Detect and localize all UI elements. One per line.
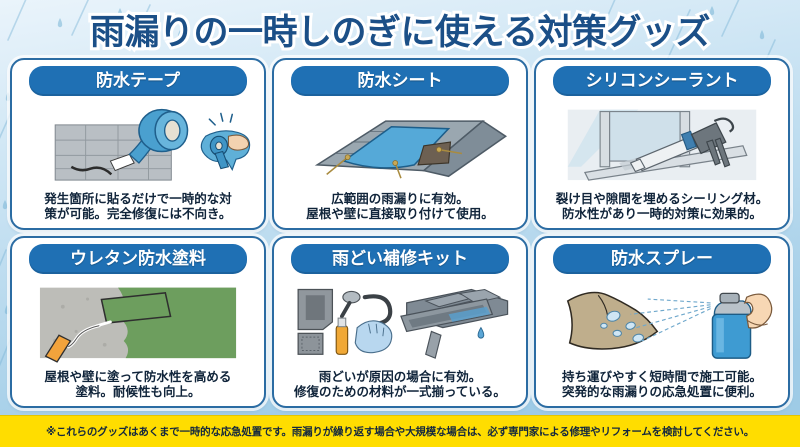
footer-note-text: ※これらのグッズはあくまで一時的な応急処置です。雨漏りが繰り返す場合や大規模な場… [46, 424, 754, 439]
card-desc-waterproof-sheet: 広範囲の雨漏りに有効。 屋根や壁に直接取り付けて使用。 [281, 192, 519, 224]
card-desc-silicone-sealant: 裂け目や隙間を埋めるシーリング材。 防水性があり一時的対策に効果的。 [543, 192, 781, 224]
card-title-waterproof-sheet: 防水シート [291, 66, 510, 96]
page-header: 雨漏りの一時しのぎに使える対策グッズ [0, 0, 800, 58]
roof-tarp-icon [281, 98, 519, 192]
tape-roll-icon [19, 98, 257, 192]
caulking-gun-icon [543, 98, 781, 192]
card-desc-waterproof-spray: 持ち運びやすく短時間で施工可能。 突発的な雨漏りの応急処置に便利。 [543, 370, 781, 402]
card-title-urethane-paint: ウレタン防水塗料 [29, 244, 248, 274]
card-waterproof-tape[interactable]: 防水テープ [10, 58, 266, 230]
card-title-silicone-sealant: シリコンシーラント [553, 66, 772, 96]
goods-card-grid: 防水テープ [10, 58, 790, 408]
page-title: 雨漏りの一時しのぎに使える対策グッズ [90, 4, 710, 55]
card-title-gutter-repair-kit: 雨どい補修キット [291, 244, 510, 274]
footer-warning-banner: ※これらのグッズはあくまで一時的な応急処置です。雨漏りが繰り返す場合や大規模な場… [0, 415, 800, 447]
card-waterproof-sheet[interactable]: 防水シート 広範囲の雨漏りに有効。 屋根や壁に直接取り付けて使用。 [272, 58, 528, 230]
card-desc-urethane-paint: 屋根や壁に塗って防水性を高める 塗料。耐候性も向上。 [19, 370, 257, 402]
card-urethane-paint[interactable]: ウレタン防水塗料 屋根や壁に塗って防水性を高める 塗料。耐候性も向上。 [10, 236, 266, 408]
spray-can-icon [543, 276, 781, 370]
gutter-repair-kit-icon [281, 276, 519, 370]
card-title-waterproof-tape: 防水テープ [29, 66, 248, 96]
card-desc-gutter-repair-kit: 雨どいが原因の場合に有効。 修復のための材料が一式揃っている。 [281, 370, 519, 402]
card-desc-waterproof-tape: 発生箇所に貼るだけで一時的な対 策が可能。完全修復には不向き。 [19, 192, 257, 224]
card-waterproof-spray[interactable]: 防水スプレー [534, 236, 790, 408]
card-silicone-sealant[interactable]: シリコンシーラント 裂け目や隙間を埋めるシーリング材。 防水性があり一時的対策に… [534, 58, 790, 230]
card-title-waterproof-spray: 防水スプレー [553, 244, 772, 274]
paint-roller-icon [19, 276, 257, 370]
card-gutter-repair-kit[interactable]: 雨どい補修キット [272, 236, 528, 408]
